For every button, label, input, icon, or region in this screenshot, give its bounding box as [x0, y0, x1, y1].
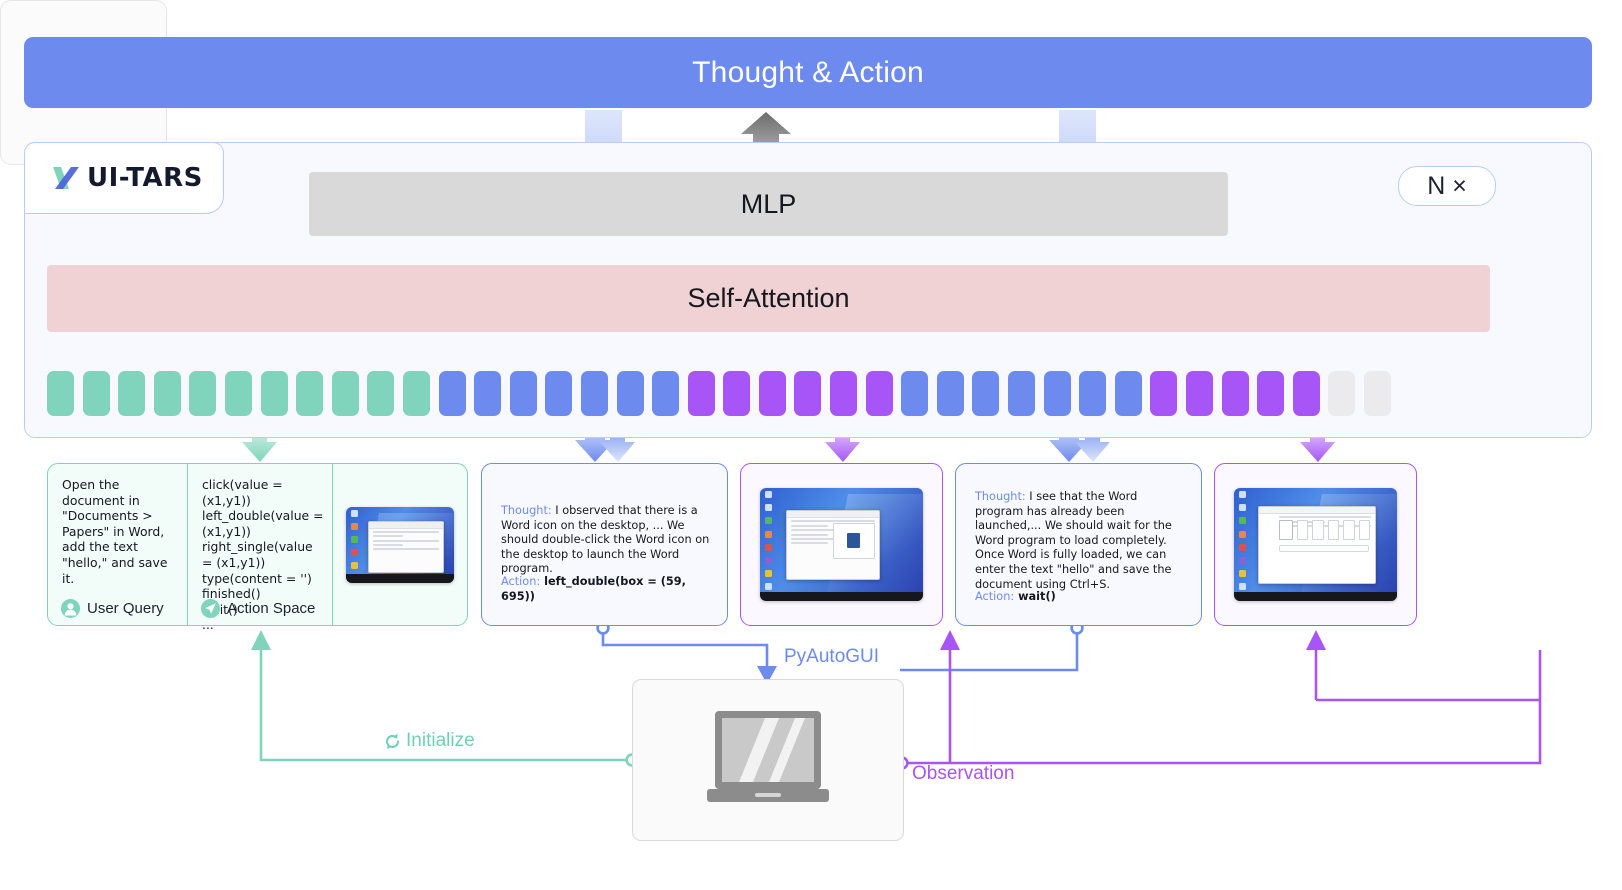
user-query-text: Open the document in "Documents > Papers… [62, 477, 179, 586]
laptop-icon [693, 703, 843, 818]
token-prompt-tokens [261, 371, 288, 416]
token-image-tokens-2 [1257, 371, 1284, 416]
token-thought-tokens-2 [1008, 371, 1035, 416]
token-thought-tokens-1 [617, 371, 644, 416]
token-image-tokens-1 [866, 371, 893, 416]
repeat-count-badge: N × [1398, 166, 1496, 206]
token-image-tokens-2 [1186, 371, 1213, 416]
arrowhead-observation-1 [940, 630, 960, 650]
uitars-x-icon [49, 161, 83, 195]
token-prompt-tokens [403, 371, 430, 416]
token-thought-tokens-1 [581, 371, 608, 416]
token-image-tokens-2 [1150, 371, 1177, 416]
pyautogui-label: PyAutoGUI [784, 646, 879, 668]
token-thought-tokens-2 [1044, 371, 1071, 416]
user-query-box: Open the document in "Documents > Papers… [47, 463, 468, 626]
token-prompt-tokens [83, 371, 110, 416]
token-image-tokens-1 [759, 371, 786, 416]
token-image-tokens-2 [1293, 371, 1320, 416]
uitars-logo-chip: UI-TARS [24, 142, 224, 214]
thought-action-box-2: Thought: I see that the Word program has… [955, 463, 1202, 626]
observation-screenshot-2 [1234, 488, 1397, 601]
token-image-tokens-1 [723, 371, 750, 416]
action-space-line: left_double(value = (x1,y1)) [202, 508, 324, 539]
action-keyword-1: Action: [501, 575, 540, 588]
token-image-tokens-1 [794, 371, 821, 416]
token-prompt-tokens [47, 371, 74, 416]
observation-label: Observation [912, 763, 1014, 785]
diagram-canvas: Thought & Action UI-TARS N × MLP Self-At… [0, 0, 1622, 890]
observation-box-1 [740, 463, 943, 626]
token-thought-tokens-1 [652, 371, 679, 416]
token-thought-tokens-1 [474, 371, 501, 416]
token-thought-tokens-1 [439, 371, 466, 416]
token-image-tokens-1 [688, 371, 715, 416]
refresh-icon [382, 731, 403, 752]
self-attention-block: Self-Attention [47, 265, 1490, 332]
thought-action-box-1: Thought: I observed that there is a Word… [481, 463, 728, 626]
user-icon [61, 599, 80, 618]
repeat-count-label: N × [1427, 172, 1467, 201]
arrowhead-observation-2 [1306, 630, 1326, 650]
token-strip [47, 371, 1400, 416]
action-text-1: Action: left_double(box = (59, 695)) [501, 575, 713, 604]
token-thought-tokens-2 [937, 371, 964, 416]
thought-keyword-1: Thought: [501, 504, 552, 517]
action-space-column: click(value = (x1,y1))left_double(value … [188, 464, 333, 625]
action-space-line: ... [202, 617, 324, 633]
action-text-2: Action: wait() [975, 590, 1187, 605]
connector-action2-to-computer [900, 628, 1077, 670]
thought-keyword-2: Thought: [975, 490, 1026, 503]
initial-desktop-thumbnail [346, 507, 454, 583]
token-prompt-tokens [296, 371, 323, 416]
token-prompt-tokens [154, 371, 181, 416]
token-image-tokens-2 [1222, 371, 1249, 416]
user-query-column: Open the document in "Documents > Papers… [48, 464, 188, 625]
token-prompt-tokens [118, 371, 145, 416]
initialize-label: Initialize [406, 730, 475, 752]
user-query-footer: User Query [61, 599, 164, 618]
action-keyword-2: Action: [975, 590, 1014, 603]
token-thought-tokens-2 [901, 371, 928, 416]
token-thought-tokens-2 [972, 371, 999, 416]
action-space-footer: Action Space [201, 599, 315, 618]
thought-text-2: Thought: I see that the Word program has… [975, 490, 1187, 592]
observation-box-2 [1214, 463, 1417, 626]
token-prompt-tokens [367, 371, 394, 416]
thought-text-1: Thought: I observed that there is a Word… [501, 504, 713, 577]
action-body-2: wait() [1014, 590, 1056, 603]
arrowhead-initialize [251, 630, 271, 650]
user-query-label: User Query [87, 600, 164, 617]
computer-node [632, 679, 904, 841]
thought-body-2: I see that the Word program has already … [975, 490, 1172, 591]
token-thought-tokens-1 [545, 371, 572, 416]
action-space-line: right_single(value = (x1,y1)) [202, 539, 324, 570]
mlp-label: MLP [741, 189, 797, 220]
initial-screenshot-column [333, 464, 467, 625]
action-space-line: type(content = '') [202, 571, 324, 587]
token-prompt-tokens [332, 371, 359, 416]
self-attention-label: Self-Attention [687, 283, 849, 314]
action-space-line: click(value = (x1,y1)) [202, 477, 324, 508]
mlp-block: MLP [309, 172, 1228, 236]
connector-observation [908, 640, 1540, 763]
token-image-tokens-1 [830, 371, 857, 416]
token-thought-tokens-2 [1115, 371, 1142, 416]
connector-action-to-computer [603, 628, 767, 676]
observation-screenshot-1 [760, 488, 923, 601]
uitars-wordmark: UI-TARS [87, 163, 203, 193]
action-space-label: Action Space [227, 600, 315, 617]
token-thought-tokens-1 [510, 371, 537, 416]
banner-title: Thought & Action [692, 56, 924, 90]
token-prompt-tokens [225, 371, 252, 416]
token-prompt-tokens [189, 371, 216, 416]
thought-action-banner: Thought & Action [24, 37, 1592, 108]
token-pending-tokens [1364, 371, 1391, 416]
token-pending-tokens [1328, 371, 1355, 416]
send-icon [201, 599, 220, 618]
token-thought-tokens-2 [1079, 371, 1106, 416]
